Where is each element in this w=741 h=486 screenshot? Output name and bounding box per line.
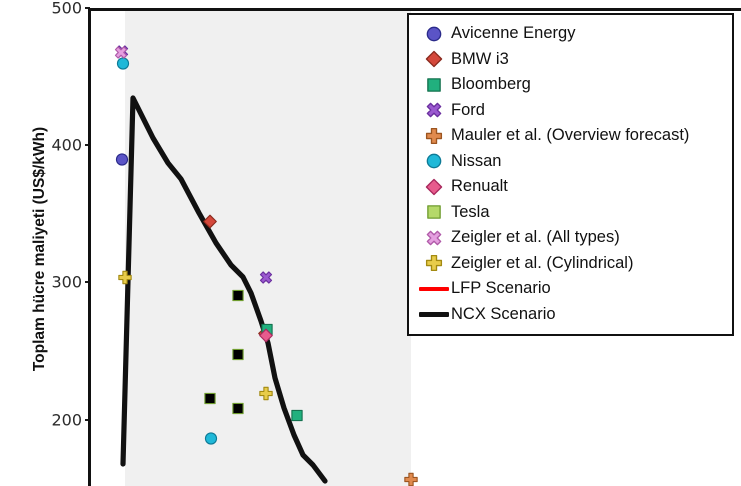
legend-marker-line-icon bbox=[417, 303, 451, 325]
legend-item[interactable]: Ford bbox=[417, 98, 724, 124]
legend-marker-circle-icon bbox=[417, 23, 451, 45]
data-point bbox=[231, 347, 246, 367]
legend-label: Zeigler et al. (Cylindrical) bbox=[451, 254, 633, 273]
legend-label: Ford bbox=[451, 101, 485, 120]
data-point bbox=[259, 270, 274, 290]
legend-label: NCX Scenario bbox=[451, 305, 556, 324]
legend-item[interactable]: Avicenne Energy bbox=[417, 21, 724, 47]
data-point bbox=[204, 431, 219, 451]
legend-item[interactable]: Tesla bbox=[417, 200, 724, 226]
y-tick-300: 300 bbox=[34, 273, 82, 292]
legend-label: BMW i3 bbox=[451, 50, 509, 69]
data-point bbox=[118, 270, 133, 290]
data-point bbox=[203, 391, 218, 411]
y-axis-tick-labels: 500 400 300 200 bbox=[30, 0, 82, 486]
legend-marker-x-star-icon bbox=[417, 99, 451, 121]
y-tick-400: 400 bbox=[34, 136, 82, 155]
data-point bbox=[115, 152, 130, 172]
legend-item[interactable]: Renualt bbox=[417, 174, 724, 200]
legend-marker-diamond-icon bbox=[417, 176, 451, 198]
data-point bbox=[259, 386, 274, 406]
legend-label: Zeigler et al. (All types) bbox=[451, 228, 620, 247]
legend-marker-plus-icon bbox=[417, 252, 451, 274]
y-tick-500: 500 bbox=[34, 0, 82, 18]
chart-legend: Avicenne EnergyBMW i3BloombergFordMauler… bbox=[407, 13, 734, 336]
legend-label: Tesla bbox=[451, 203, 490, 222]
legend-marker-diamond-icon bbox=[417, 48, 451, 70]
legend-label: LFP Scenario bbox=[451, 279, 551, 298]
legend-item[interactable]: Bloomberg bbox=[417, 72, 724, 98]
legend-item[interactable]: Zeigler et al. (Cylindrical) bbox=[417, 251, 724, 277]
legend-label: Renualt bbox=[451, 177, 508, 196]
data-point bbox=[114, 45, 129, 65]
legend-label: Avicenne Energy bbox=[451, 24, 575, 43]
y-tick-200: 200 bbox=[34, 411, 82, 430]
legend-item[interactable]: BMW i3 bbox=[417, 47, 724, 73]
data-point bbox=[404, 472, 419, 486]
legend-label: Nissan bbox=[451, 152, 501, 171]
legend-item[interactable]: Nissan bbox=[417, 149, 724, 175]
legend-marker-line-icon bbox=[417, 278, 451, 300]
legend-item[interactable]: Zeigler et al. (All types) bbox=[417, 225, 724, 251]
data-point bbox=[231, 401, 246, 421]
legend-marker-circle-icon bbox=[417, 150, 451, 172]
legend-marker-square-icon bbox=[417, 74, 451, 96]
legend-marker-plus-icon bbox=[417, 125, 451, 147]
legend-label: Mauler et al. (Overview forecast) bbox=[451, 126, 689, 145]
legend-item[interactable]: LFP Scenario bbox=[417, 276, 724, 302]
legend-marker-square-icon bbox=[417, 201, 451, 223]
legend-marker-x-star-icon bbox=[417, 227, 451, 249]
legend-item[interactable]: NCX Scenario bbox=[417, 302, 724, 328]
legend-label: Bloomberg bbox=[451, 75, 531, 94]
data-point bbox=[259, 328, 274, 348]
legend-item[interactable]: Mauler et al. (Overview forecast) bbox=[417, 123, 724, 149]
data-point bbox=[203, 214, 218, 234]
chart-figure: Toplam hücre maliyeti (US$/kWh) 500 400 … bbox=[0, 0, 741, 486]
data-point bbox=[290, 408, 305, 428]
data-point bbox=[231, 288, 246, 308]
